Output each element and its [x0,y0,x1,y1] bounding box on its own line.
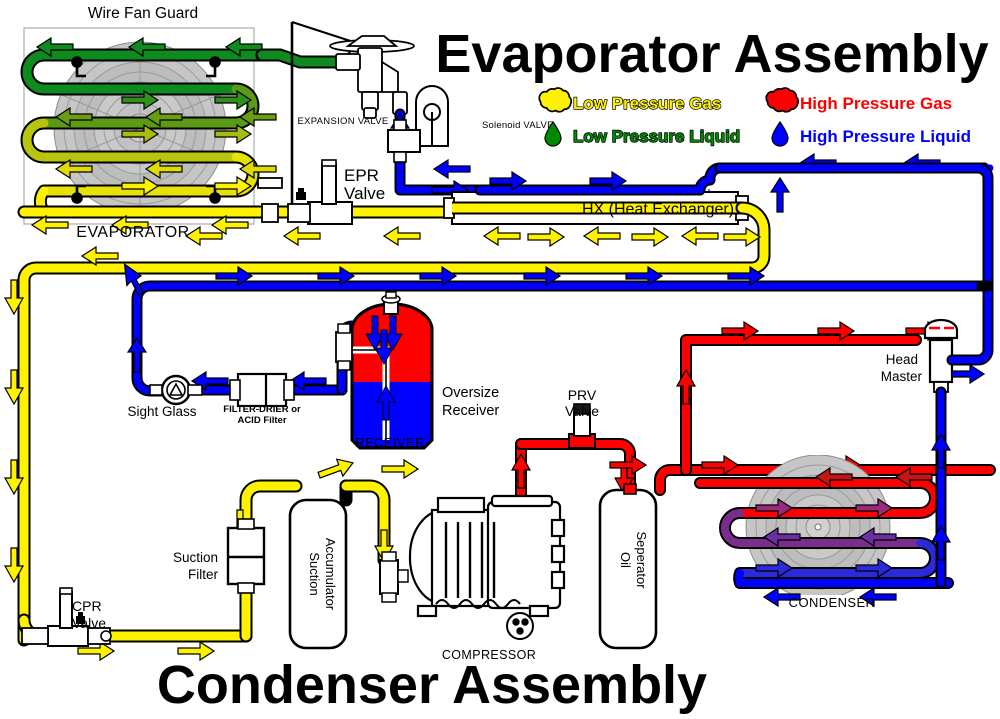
evaporator-inlet-line [262,55,336,62]
label-condenser: CONDENSER [789,595,876,610]
gas-cloud-icon-red [766,88,798,112]
label-sight-glass: Sight Glass [127,404,196,419]
label-prv-valve-line2: Valve [565,403,599,419]
label-oversize-receiver-line2: Receiver [442,403,499,419]
legend-label-2: High Pressure Gas [800,94,952,113]
label-oil-separator-line2: Seperator [634,531,649,589]
suction-filter-body [228,519,264,593]
label-cpr-valve-line2: Valve [72,615,106,631]
legend-label-3: High Pressure Liquid [800,127,971,146]
page-title-top: Evaporator Assembly [435,24,988,84]
gas-cloud-icon [539,88,571,112]
label-heat-exchanger: HX (Heat Exchanger) [582,201,734,218]
label-epr-valve-line1: EPR [344,166,379,185]
label-suction-filter-line1: Suction [173,550,218,565]
label-oil-separator-line1: Oil [618,552,633,568]
label-prv-valve-line1: PRV [568,387,597,403]
label-receiver: RECEIVER [355,435,425,450]
label-oversize-receiver-line1: Oversize [442,385,499,401]
filter-drier-body [230,374,294,406]
legend-label-1: Low Pressure Liquid [573,127,740,146]
label-head-master-line2: Master [881,369,923,384]
label-wire-fan-guard: Wire Fan Guard [88,5,198,22]
label-evaporator: EVAPORATOR [76,224,189,241]
label-head-master-line1: Head [886,352,918,367]
label-solenoid-valve: Solenoid VALVE [482,120,554,131]
label-filter-drier-line1: FILTER-DRIER or [223,404,301,415]
label-expansion-valve: EXPANSION VALVE [297,116,388,127]
label-suction-accumulator-line1: Suction [307,552,322,595]
legend-label-0: Low Pressure Gas [573,94,721,113]
refrigeration-system-diagram: Wire Fan Guard EVAPORATOR EXPANSION VALV… [0,0,1000,719]
label-suction-accumulator-line2: Accumulator [323,538,338,611]
diagram-canvas: Wire Fan Guard EVAPORATOR EXPANSION VALV… [0,0,1000,719]
label-filter-drier-line2: ACID Filter [237,415,286,426]
label-epr-valve-line2: Valve [344,184,385,203]
page-title-bottom: Condenser Assembly [157,655,707,715]
label-suction-filter-line2: Filter [188,567,219,582]
label-cpr-valve-line1: CPR [72,598,102,614]
